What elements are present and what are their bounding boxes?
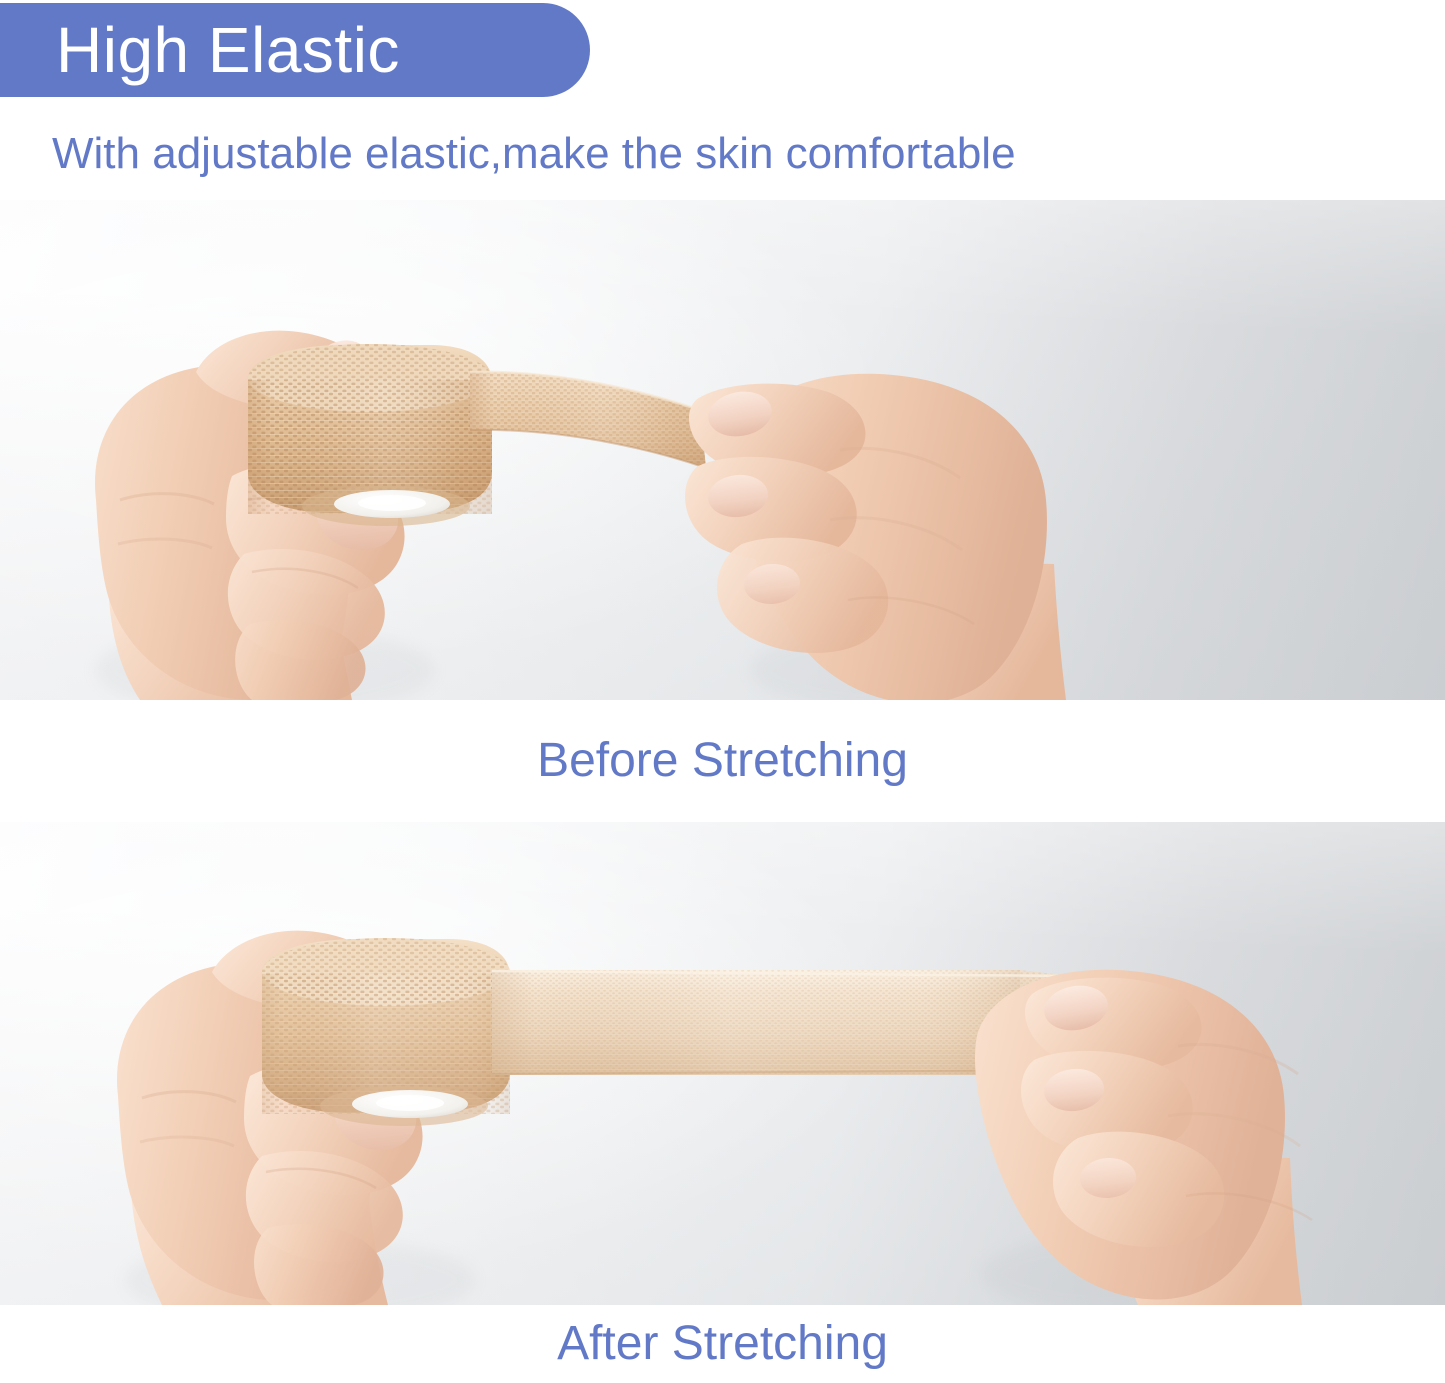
feature-subtitle: With adjustable elastic,make the skin co…: [52, 125, 1172, 183]
photo-before-stretching: [0, 200, 1445, 700]
bandage-strip-before: [470, 372, 706, 468]
caption-band-before: Before Stretching: [0, 700, 1445, 822]
right-hand-before: [685, 374, 1066, 700]
caption-before-stretching: Before Stretching: [537, 733, 908, 789]
caption-band-after: After Stretching: [0, 1305, 1445, 1383]
photo-after-stretching: [0, 822, 1445, 1305]
bandage-roll-before: [248, 344, 492, 526]
feature-badge: High Elastic: [0, 3, 590, 97]
caption-after-stretching: After Stretching: [557, 1316, 888, 1372]
bandage-roll-after: [262, 938, 510, 1126]
product-feature-page: High Elastic With adjustable elastic,mak…: [0, 0, 1445, 1383]
feature-badge-label: High Elastic: [0, 18, 400, 82]
photo-illustration-after: [0, 822, 1445, 1305]
photo-illustration-before: [0, 200, 1445, 700]
